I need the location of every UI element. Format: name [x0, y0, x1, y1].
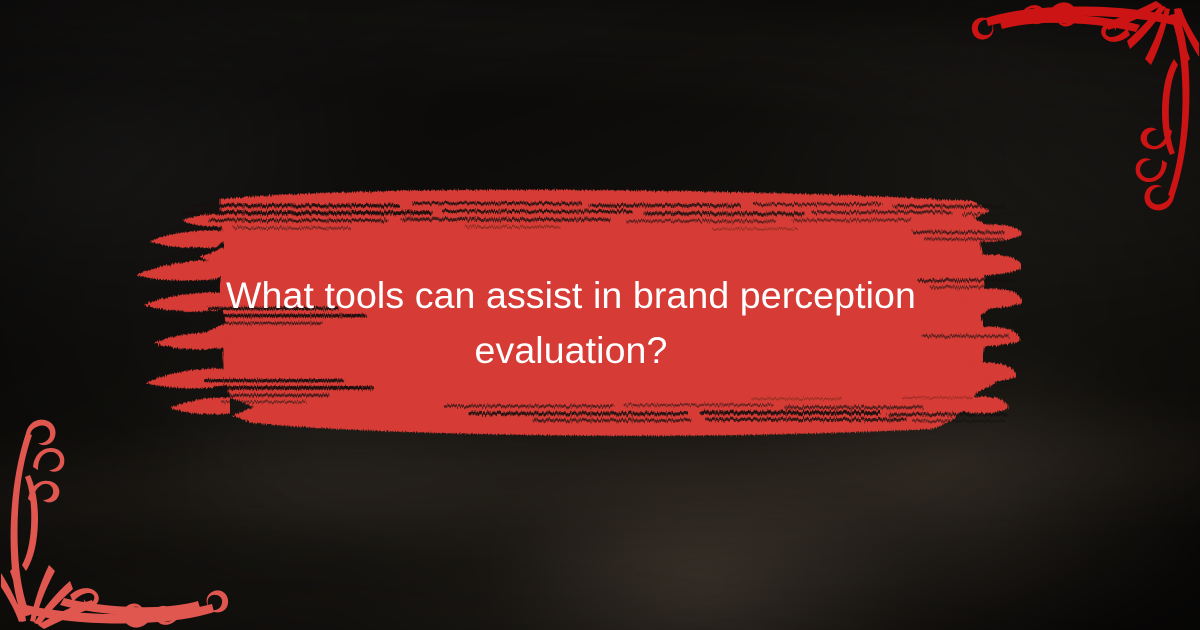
question-card: What tools can assist in brand perceptio… [0, 0, 1200, 630]
page-title: What tools can assist in brand perceptio… [186, 268, 956, 378]
floral-flourish-bottom-left-icon [0, 415, 230, 630]
